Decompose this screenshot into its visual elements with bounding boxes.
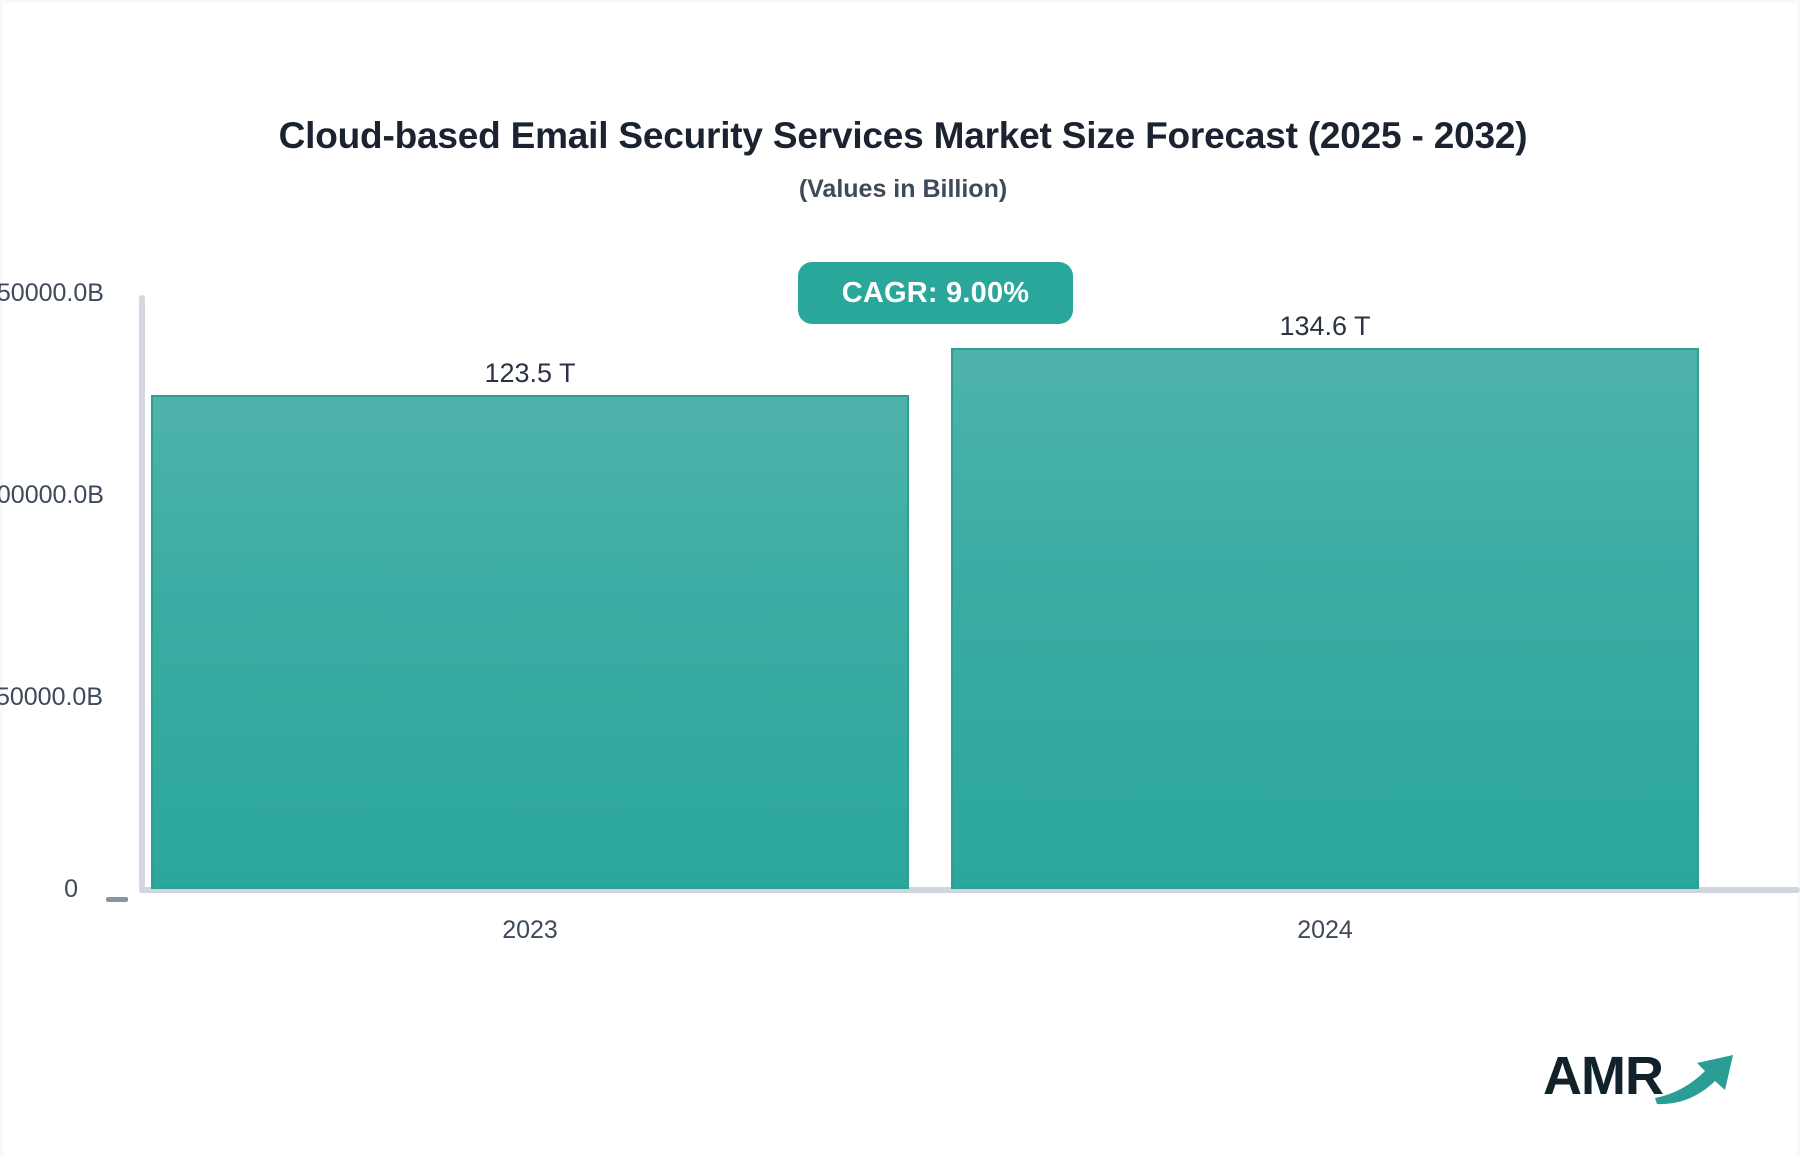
cagr-badge-label: CAGR: 9.00% [842, 277, 1030, 310]
amr-logo-text: AMR [1543, 1045, 1663, 1107]
y-axis-tick-label-0: 0 [13, 875, 78, 904]
x-axis-tick-label-2024: 2024 [951, 916, 1699, 945]
bar-value-label-2023: 123.5 T [151, 358, 909, 389]
plot-area: 150000.0B 100000.0B 50000.0B 0 123.5 T 1… [3, 3, 1800, 1159]
bar-2023[interactable] [151, 395, 909, 889]
growth-arrow-icon [1653, 1043, 1739, 1110]
y-axis-line [139, 295, 145, 889]
cagr-badge[interactable]: CAGR: 9.00% [798, 262, 1073, 324]
x-axis-tick-label-2023: 2023 [151, 916, 909, 945]
y-axis-zero-tick [106, 897, 128, 902]
y-axis-tick-label-100000: 100000.0B [0, 481, 103, 510]
amr-logo: AMR [1543, 1043, 1733, 1113]
y-axis-tick-label-50000: 50000.0B [0, 683, 103, 712]
chart-page: Cloud-based Email Security Services Mark… [0, 0, 1800, 1156]
bar-2024[interactable] [951, 348, 1699, 889]
y-axis-tick-label-150000: 150000.0B [0, 279, 103, 308]
